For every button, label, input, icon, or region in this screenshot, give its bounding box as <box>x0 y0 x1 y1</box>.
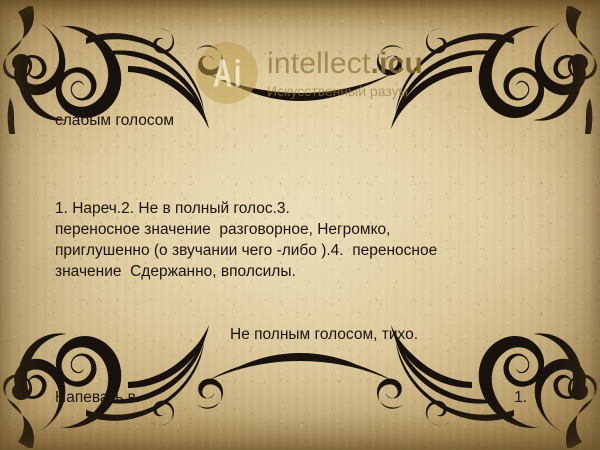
slide-text-body: слабым голосом 1. Нареч.2. Не в полный г… <box>55 68 555 450</box>
entry-line: 1.Напевать в. <box>55 387 555 408</box>
centered-line-paragraph: Не полным голосом, тихо. <box>55 324 555 345</box>
entry-number: 1. <box>514 387 527 408</box>
slide-canvas: intellect.icu Искусственный разум слабым… <box>0 0 600 450</box>
lead-phrase: слабым голосом <box>55 110 555 131</box>
centered-line: Не полным голосом, тихо. <box>230 326 418 343</box>
definition-paragraph: 1. Нареч.2. Не в полный голос.3. перенос… <box>55 198 555 282</box>
entry-label: Напевать в. <box>55 389 140 406</box>
